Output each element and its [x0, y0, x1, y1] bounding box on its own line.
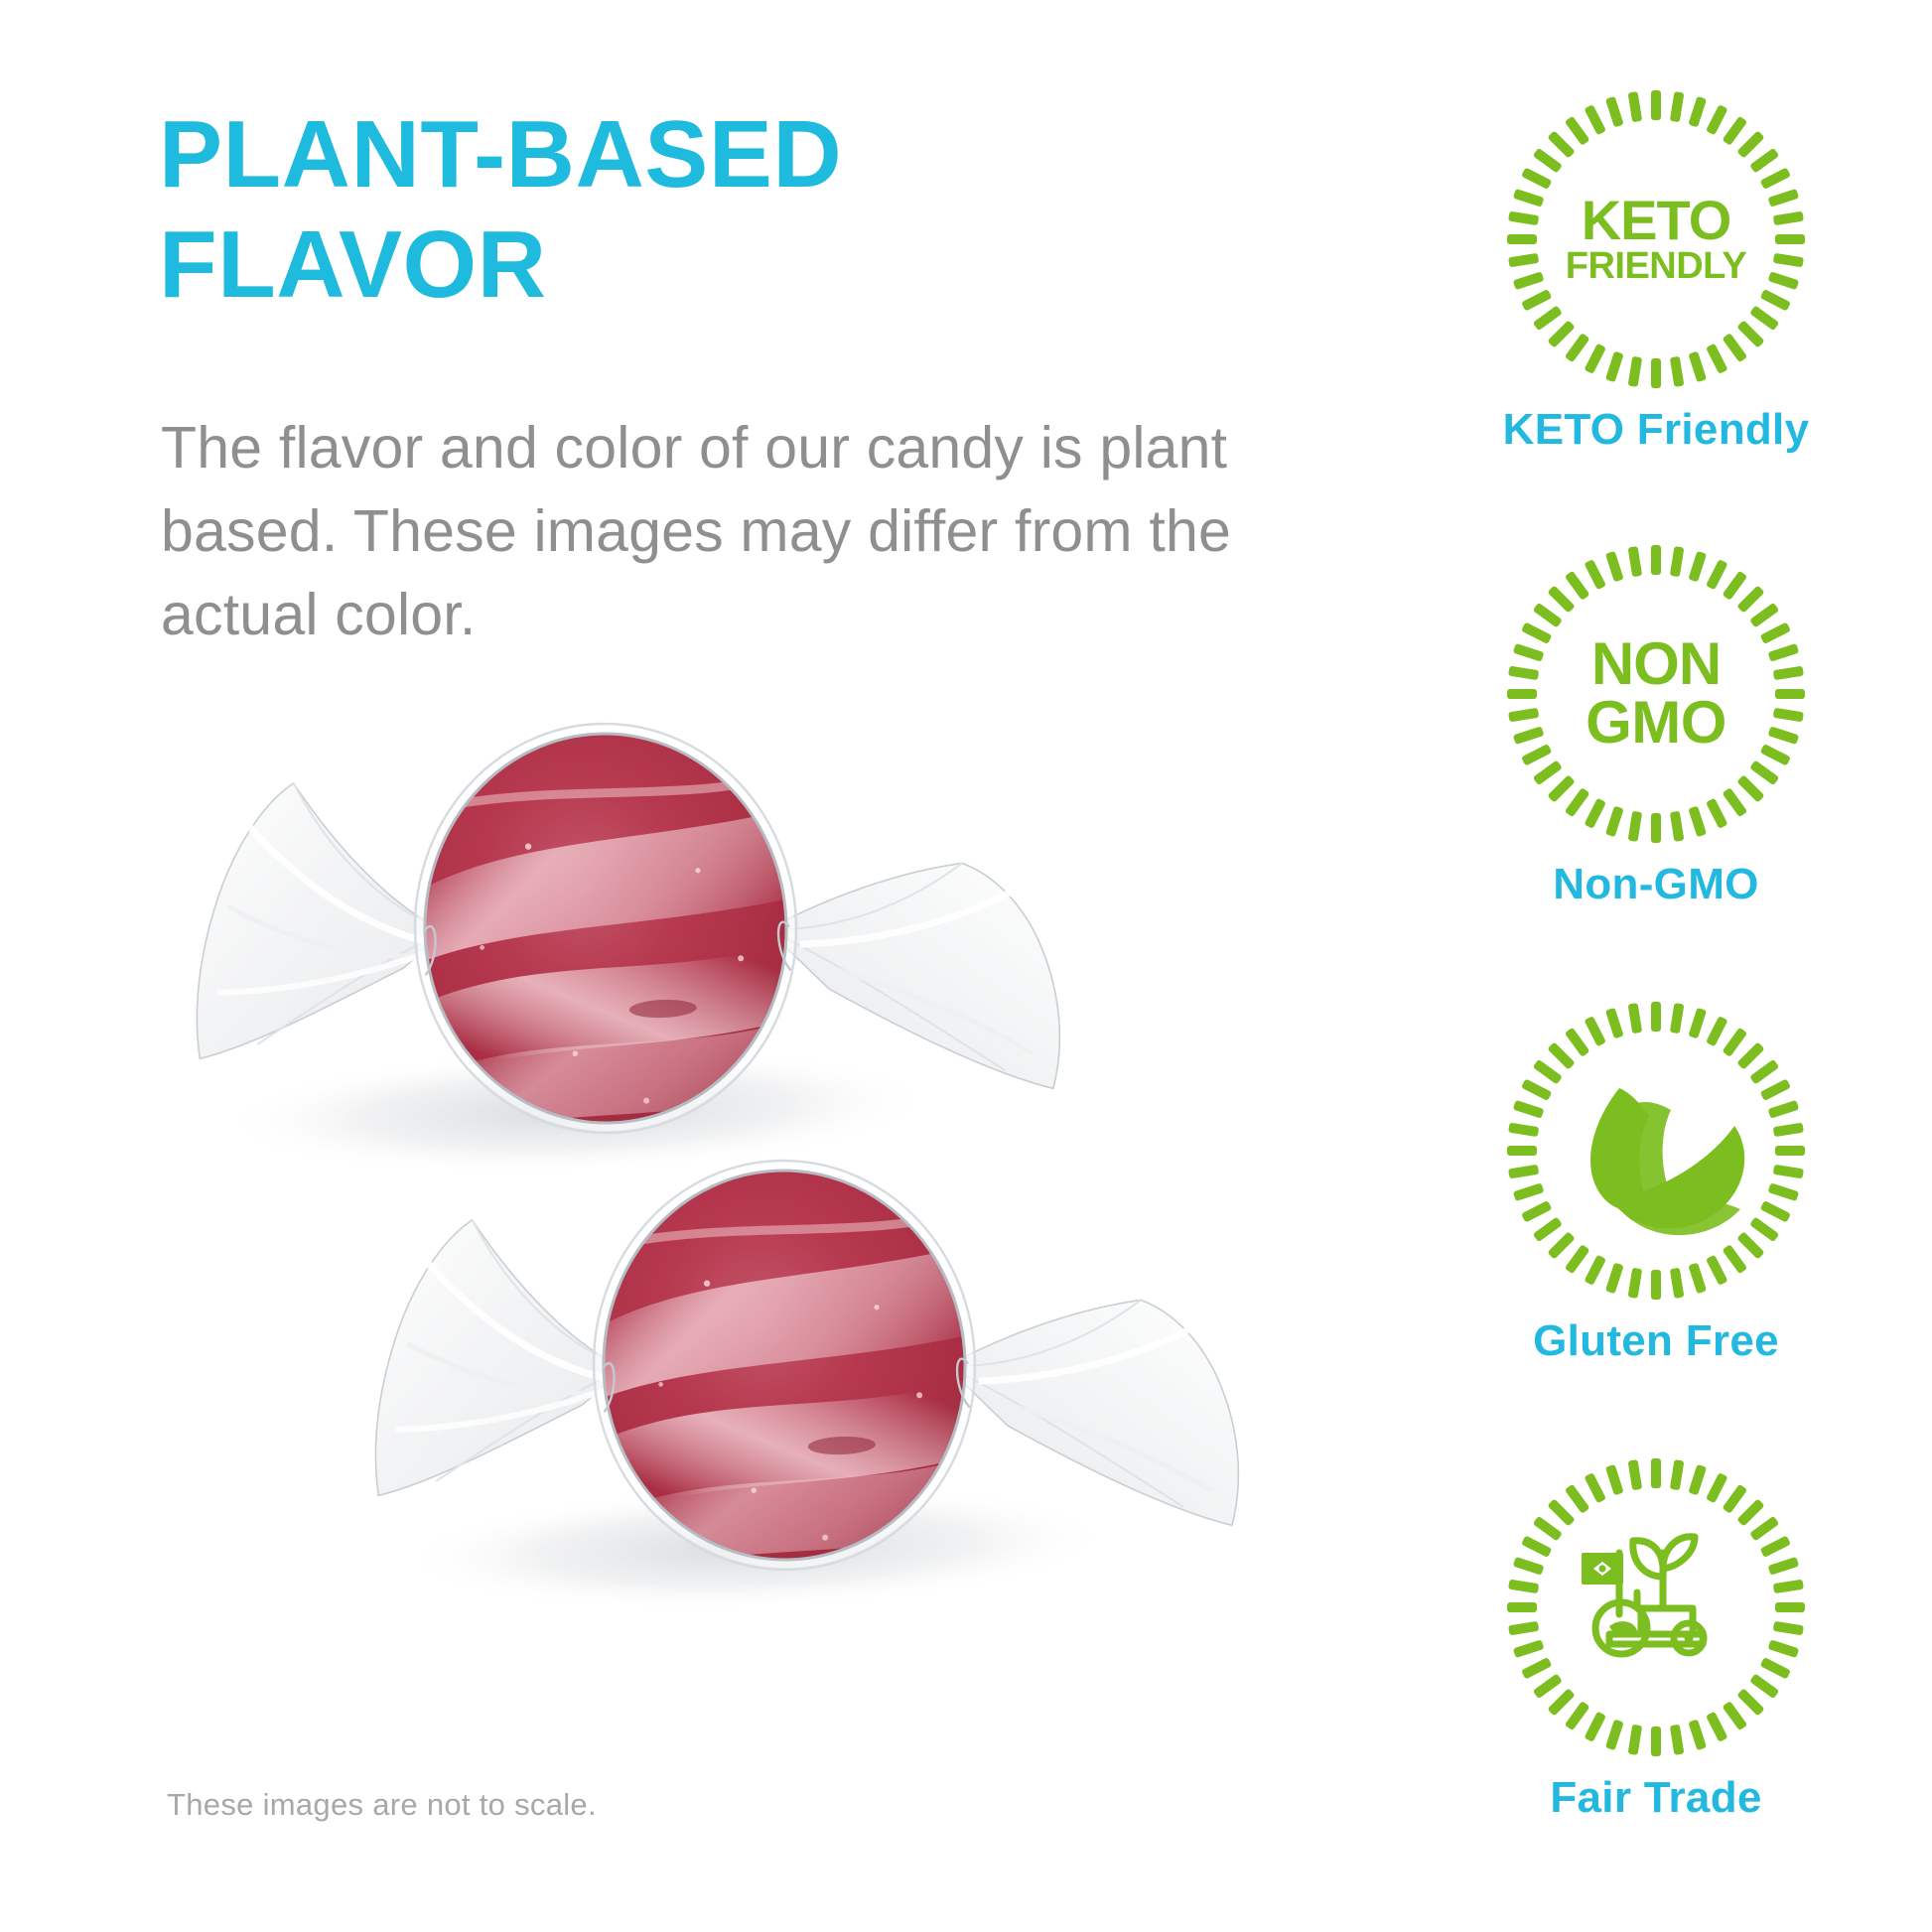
sunburst-icon — [1498, 536, 1814, 852]
badge-caption-fair-trade: Fair Trade — [1550, 1773, 1761, 1823]
sunburst-icon — [1498, 81, 1814, 397]
product-image-group — [0, 0, 1370, 1932]
badge-caption-non-gmo: Non-GMO — [1553, 860, 1758, 909]
candy-image-top — [96, 678, 1115, 1179]
two-leaves-icon — [1590, 1088, 1744, 1235]
non-gmo-seal: NON GMO — [1498, 536, 1814, 852]
badge-caption-gluten-free: Gluten Free — [1533, 1316, 1779, 1366]
badge-caption-keto: KETO Friendly — [1503, 405, 1810, 455]
badge-non-gmo: NON GMO Non-GMO — [1380, 536, 1932, 909]
scale-footnote: These images are not to scale. — [167, 1787, 597, 1823]
badge-keto-friendly: KETO FRIENDLY KETO Friendly — [1380, 81, 1932, 455]
certification-badge-column: KETO FRIENDLY KETO Friendly — [1380, 0, 1932, 1932]
badge-gluten-free: Gluten Free — [1380, 993, 1932, 1366]
info-column: PLANT-BASED FLAVOR The flavor and color … — [0, 0, 1370, 1932]
tractor-flag-sprout-icon — [1582, 1537, 1704, 1654]
badge-fair-trade: Fair Trade — [1380, 1449, 1932, 1823]
gluten-free-seal — [1498, 993, 1814, 1309]
fair-trade-seal — [1498, 1449, 1814, 1765]
candy-image-bottom — [275, 1115, 1294, 1616]
keto-friendly-seal: KETO FRIENDLY — [1498, 81, 1814, 397]
